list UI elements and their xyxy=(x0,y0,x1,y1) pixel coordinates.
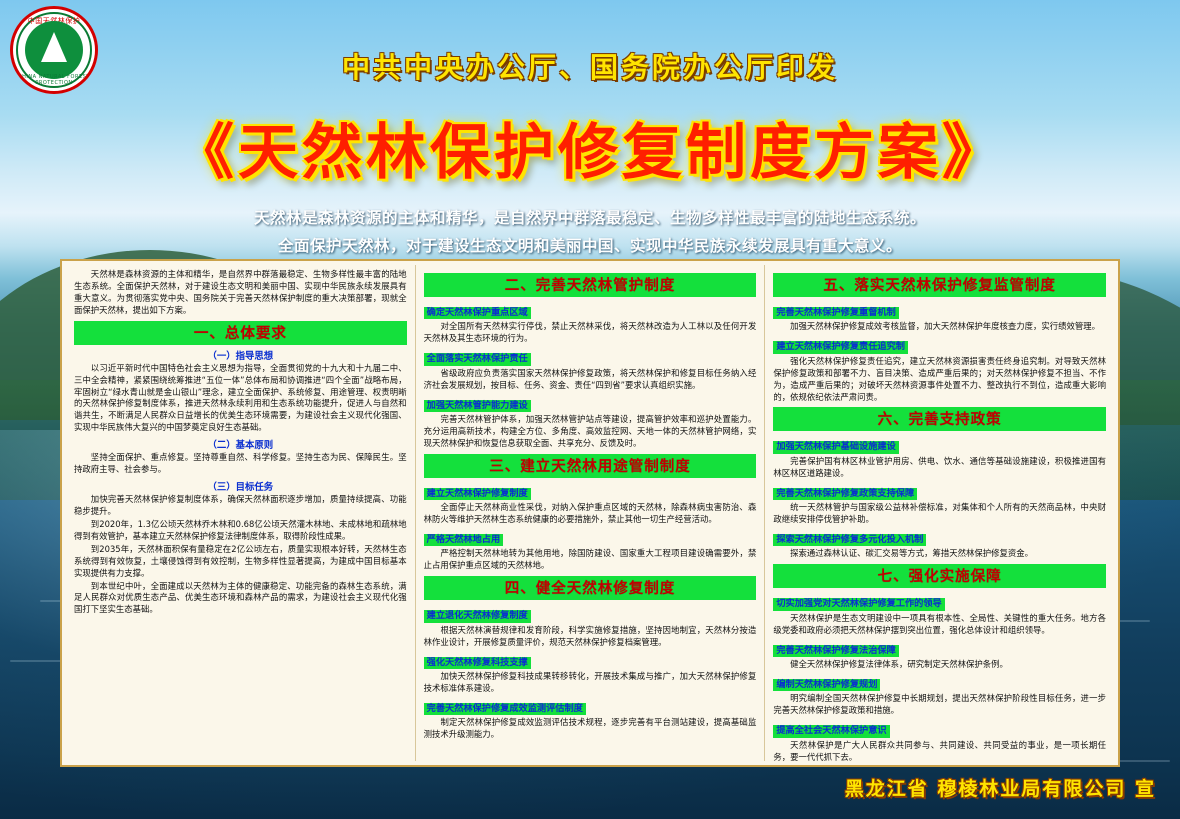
column-3: 五、落实天然林保护修复监管制度 完善天然林保护修复重督机制 加强天然林保护修复成… xyxy=(764,265,1114,761)
section-heading-3: 三、建立天然林用途管制制度 xyxy=(424,454,757,478)
paragraph-2-2: 省级政府应负责落实国家天然林保护修复政策，将天然林保护和修复目标任务纳入经济社会… xyxy=(424,368,757,392)
subsection-heading-4-3: 完善天然林保护修复成效监测评估制度 xyxy=(424,703,586,715)
subsection-heading-2-3: 加强天然林管护能力建设 xyxy=(424,400,531,412)
publisher-line: 黑龙江省 穆棱林业局有限公司 宣 xyxy=(845,774,1156,801)
paragraph-1-3a: 加快完善天然林保护修复制度体系，确保天然林面积逐步增加，质量持续提高、功能稳步提… xyxy=(74,494,407,518)
subsection-heading-6-3: 探索天然林保护修复多元化投入机制 xyxy=(773,534,926,546)
subsection-heading-5-1: 完善天然林保护修复重督机制 xyxy=(773,307,898,319)
page-title: 《天然林保护修复制度方案》 xyxy=(0,104,1180,191)
paragraph-4-2: 加快天然林保护修复科技成果转移转化，开展技术集成与推广，加大天然林保护修复技术标… xyxy=(424,671,757,695)
section-heading-2: 二、完善天然林管护制度 xyxy=(424,273,757,297)
subsection-heading-5-2: 建立天然林保护修复责任追究制 xyxy=(773,341,908,353)
subsection-heading-3-2: 严格天然林地占用 xyxy=(424,534,504,546)
column-2: 二、完善天然林管护制度 确定天然林保护重点区域 对全国所有天然林实行停伐，禁止天… xyxy=(415,265,765,761)
paragraph-4-3: 制定天然林保护修复成效监测评估技术规程，逐步完善有平台测站建设，提高基础监测技术… xyxy=(424,717,757,741)
paragraph-7-4: 天然林保护是广大人民群众共同参与、共同建设、共同受益的事业，是一项长期任务，要一… xyxy=(773,740,1106,764)
subsection-heading-4-2: 强化天然林修复科技支撑 xyxy=(424,657,531,669)
column-1: 天然林是森林资源的主体和精华，是自然界中群落最稳定、生物多样性最丰富的陆地生态系… xyxy=(66,265,415,761)
paragraph-2-3: 完善天然林管护体系，加强天然林管护站点等建设，提高管护效率和巡护处置能力。充分运… xyxy=(424,414,757,450)
paragraph-1-3d: 到本世纪中叶，全面建成以天然林为主体的健康稳定、功能完备的森林生态系统，满足人民… xyxy=(74,581,407,617)
paragraph-5-1: 加强天然林保护修复成效考核监督，加大天然林保护年度核查力度，实行绩效管理。 xyxy=(773,321,1106,333)
subsection-heading-1-1: （一）指导思想 xyxy=(74,348,407,362)
subsection-heading-7-2: 完善天然林保护修复法治保障 xyxy=(773,645,898,657)
subsection-heading-6-2: 完善天然林保护修复政策支持保障 xyxy=(773,488,917,500)
paragraph-6-2: 统一天然林管护与国家级公益林补偿标准，对集体和个人所有的天然商品林，中央财政继续… xyxy=(773,502,1106,526)
paragraph-1-3c: 到2035年，天然林面积保有量稳定在2亿公顷左右，质量实现根本好转，天然林生态系… xyxy=(74,544,407,580)
subsection-heading-3-1: 建立天然林保护修复制度 xyxy=(424,488,531,500)
paragraph-1-1: 以习近平新时代中国特色社会主义思想为指导，全面贯彻党的十九大和十九届二中、三中全… xyxy=(74,363,407,435)
subtitle-line-2: 全面保护天然林，对于建设生态文明和美丽中国、实现中华民族永续发展具有重大意义。 xyxy=(0,234,1180,256)
paragraph-7-3: 明究编制全国天然林保护修复中长期规划，提出天然林保护阶段性目标任务，进一步完善天… xyxy=(773,693,1106,717)
document-board: 天然林是森林资源的主体和精华，是自然界中群落最稳定、生物多样性最丰富的陆地生态系… xyxy=(60,259,1120,767)
paragraph-6-3: 探索通过森林认证、碳汇交易等方式，筹措天然林保护修复资金。 xyxy=(773,548,1106,560)
subsection-heading-2-1: 确定天然林保护重点区域 xyxy=(424,307,531,319)
subsection-heading-4-1: 建立退化天然林修复制度 xyxy=(424,610,531,622)
paragraph-6-1: 完善保护国有林区林业管护用房、供电、饮水、通信等基础设施建设，积极推进国有林区林… xyxy=(773,456,1106,480)
subsection-heading-2-2: 全面落实天然林保护责任 xyxy=(424,353,531,365)
subsection-heading-7-1: 切实加强党对天然林保护修复工作的领导 xyxy=(773,598,944,610)
subsection-heading-7-4: 提高全社会天然林保护意识 xyxy=(773,725,889,737)
paragraph-1-3b: 到2020年，1.3亿公顷天然林乔木林和0.68亿公顷天然灌木林地、未成林地和疏… xyxy=(74,519,407,543)
section-heading-7: 七、强化实施保障 xyxy=(773,564,1106,588)
subsection-heading-6-1: 加强天然林保护基础设施建设 xyxy=(773,441,898,453)
section-heading-4: 四、健全天然林修复制度 xyxy=(424,576,757,600)
section-heading-5: 五、落实天然林保护修复监管制度 xyxy=(773,273,1106,297)
paragraph-5-2: 强化天然林保护修复责任追究，建立天然林资源损害责任终身追究制。对导致天然林保护修… xyxy=(773,356,1106,404)
subsection-heading-7-3: 编制天然林保护修复规划 xyxy=(773,679,880,691)
issuer-line: 中共中央办公厅、国务院办公厅印发 xyxy=(0,46,1180,86)
paragraph-7-1: 天然林保护是生态文明建设中一项具有根本性、全局性、关键性的重大任务。地方各级党委… xyxy=(773,613,1106,637)
intro-paragraph: 天然林是森林资源的主体和精华，是自然界中群落最稳定、生物多样性最丰富的陆地生态系… xyxy=(74,269,407,317)
subsection-heading-1-2: （二）基本原则 xyxy=(74,437,407,451)
section-heading-6: 六、完善支持政策 xyxy=(773,407,1106,431)
subtitle-line-1: 天然林是森林资源的主体和精华，是自然界中群落最稳定、生物多样性最丰富的陆地生态系… xyxy=(0,206,1180,228)
paragraph-7-2: 健全天然林保护修复法律体系，研究制定天然林保护条例。 xyxy=(773,659,1106,671)
section-heading-1: 一、总体要求 xyxy=(74,321,407,345)
paragraph-4-1: 根据天然林演替规律和发育阶段，科学实施修复措施，坚持因地制宜，天然林分按造林作业… xyxy=(424,625,757,649)
subsection-heading-1-3: （三）目标任务 xyxy=(74,479,407,493)
paragraph-1-2: 坚持全面保护、重点修复。坚持尊重自然、科学修复。坚持生态为民、保障民生。坚持政府… xyxy=(74,452,407,476)
paragraph-3-2: 严格控制天然林地转为其他用地，除国防建设、国家重大工程项目建设确需要外，禁止占用… xyxy=(424,548,757,572)
paragraph-2-1: 对全国所有天然林实行停伐，禁止天然林采伐，将天然林改造为人工林以及任何开发天然林… xyxy=(424,321,757,345)
paragraph-3-1: 全面停止天然林商业性采伐，对纳入保护重点区域的天然林，除森林病虫害防治、森林防火… xyxy=(424,502,757,526)
